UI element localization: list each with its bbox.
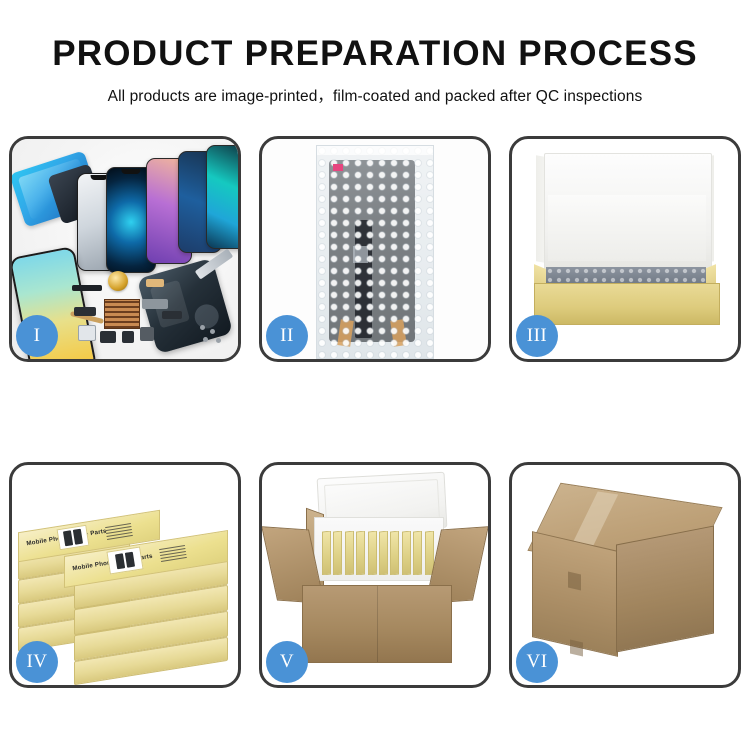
flex-strip-icon (146, 279, 164, 287)
step-badge-3: III (516, 315, 558, 357)
small-part-icon (100, 331, 116, 343)
notch-icon (91, 175, 108, 180)
process-step-grid: I II (9, 136, 741, 688)
carton-body-icon (302, 585, 452, 663)
step-badge-5: V (266, 641, 308, 683)
process-step-5: V (259, 462, 491, 688)
process-step-2: II (259, 136, 491, 362)
page-title: PRODUCT PREPARATION PROCESS (0, 0, 750, 73)
page-subtitle: All products are image-printed，film-coat… (0, 73, 750, 106)
small-part-icon (142, 299, 168, 309)
small-part-icon (140, 327, 154, 341)
yellow-boxes-inside-icon (322, 531, 434, 575)
small-part-icon (162, 311, 182, 319)
bubble-wrap-pouch-icon (316, 145, 434, 359)
carton-hand-hole-icon (568, 571, 581, 590)
carton-right-face-icon (616, 525, 714, 652)
bubble-texture (317, 146, 433, 358)
screws-group-icon (200, 325, 226, 345)
small-part-icon (74, 307, 96, 316)
foam-sheet-icon (548, 195, 706, 261)
notch-icon (121, 169, 140, 174)
yellow-box-base-icon (534, 283, 720, 325)
process-step-3: III (509, 136, 741, 362)
speaker-coil-icon (108, 271, 128, 291)
pink-qc-label-icon (333, 164, 343, 171)
process-step-1: I (9, 136, 241, 362)
step-badge-4: IV (16, 641, 58, 683)
step-badge-6: VI (516, 641, 558, 683)
phone-teal-icon (206, 145, 238, 249)
box-stack-group: Mobile Phone Spare Parts Mobile Phone Sp… (18, 487, 232, 671)
sim-tray-icon (78, 325, 96, 341)
small-part-icon (122, 331, 134, 343)
step-badge-2: II (266, 315, 308, 357)
copper-grid-part-icon (104, 299, 140, 329)
pouch-seal-icon (317, 146, 433, 155)
header: PRODUCT PREPARATION PROCESS All products… (0, 0, 750, 106)
carton-left-face-icon (532, 531, 618, 657)
antenna-bar-part-icon (72, 285, 102, 291)
process-step-4: Mobile Phone Spare Parts Mobile Phone Sp… (9, 462, 241, 688)
process-step-6: VI (509, 462, 741, 688)
product-preparation-infographic: PRODUCT PREPARATION PROCESS All products… (0, 0, 750, 750)
carton-hand-hole-icon (570, 639, 583, 656)
step-badge-1: I (16, 315, 58, 357)
